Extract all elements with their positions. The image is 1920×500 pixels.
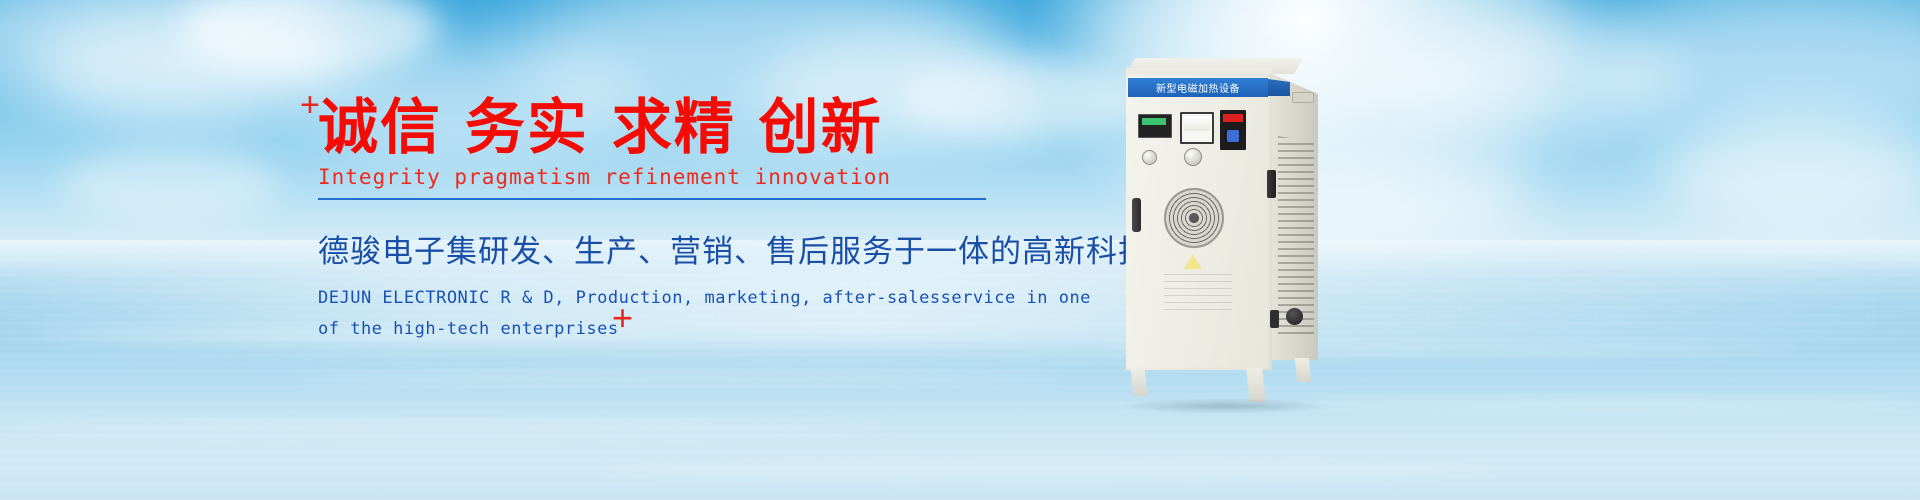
machine-foot (1295, 358, 1312, 382)
warning-triangle-icon (1184, 254, 1202, 269)
machine-side-handle (1267, 170, 1276, 198)
adjust-knob (1184, 148, 1202, 166)
meter-face (1184, 117, 1210, 131)
headline-english: Integrity pragmatism refinement innovati… (318, 165, 1038, 198)
divider-line (318, 198, 986, 200)
cooling-fan-grille (1164, 188, 1224, 248)
machine-label-text: 新型电磁加热设备 (1156, 80, 1240, 95)
machine-cable-port (1286, 308, 1303, 325)
keypad-display (1223, 114, 1243, 122)
display-readout (1142, 118, 1166, 125)
cloud-shape (60, 150, 280, 220)
sea-streak (600, 462, 1500, 478)
promotional-banner: + + 诚信 务实 求精 创新 Integrity pragmatism ref… (0, 0, 1920, 500)
sea-streak (300, 372, 1060, 384)
machine-label-banner: 新型电磁加热设备 (1128, 78, 1268, 97)
control-keypad (1220, 110, 1246, 150)
machine-side-vents (1278, 136, 1314, 336)
product-image-electromagnetic-heater: 新型电磁加热设备 (1120, 58, 1330, 418)
selector-knob (1142, 150, 1157, 165)
machine-handle (1132, 198, 1141, 232)
digital-display (1138, 114, 1172, 138)
subheadline-english-line1: DEJUN ELECTRONIC R & D, Production, mark… (318, 283, 1038, 314)
keypad-buttons (1227, 130, 1239, 142)
plus-mark-icon: + (300, 88, 320, 122)
machine-port (1270, 310, 1279, 328)
banner-copy: 诚信 务实 求精 创新 Integrity pragmatism refinem… (318, 96, 1038, 346)
sea-streak (1300, 400, 1920, 412)
machine-top-vent (1292, 92, 1314, 103)
machine-foot (1246, 368, 1266, 402)
subheadline-english-line2: of the high-tech enterprises (318, 314, 1038, 345)
sea-streak (0, 420, 900, 434)
headline-chinese: 诚信 务实 求精 创新 (318, 96, 1038, 161)
machine-foot (1131, 368, 1148, 396)
specification-label (1164, 274, 1232, 316)
subheadline-chinese: 德骏电子集研发、生产、营销、售后服务于一体的高新科技企业 (318, 226, 1038, 271)
analog-meter (1180, 112, 1214, 144)
machine-shadow (1120, 398, 1330, 414)
